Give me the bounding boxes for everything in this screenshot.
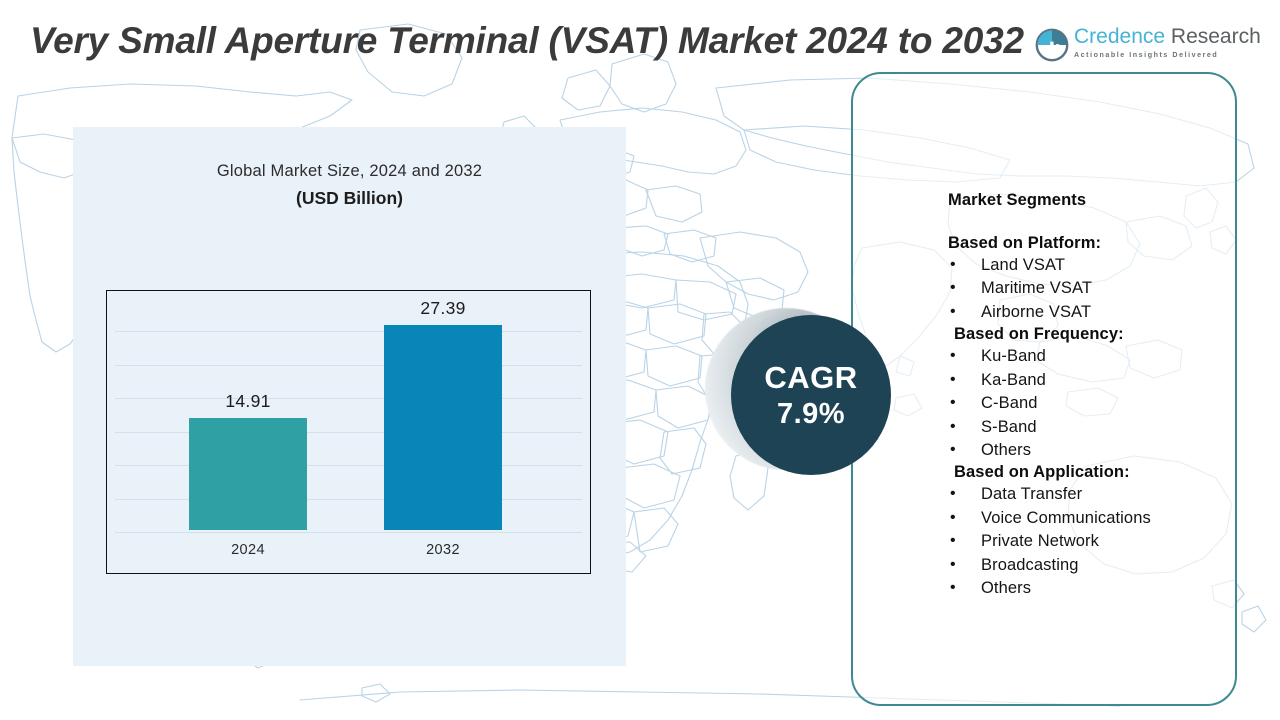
segment-item-label: C-Band [981, 394, 1038, 412]
segment-item-label: Land VSAT [981, 256, 1065, 274]
segment-list-item: •Data Transfer [948, 483, 1248, 506]
logo-wordmark: Credence Research Actionable Insights De… [1074, 26, 1261, 59]
chart-heading: Global Market Size, 2024 and 2032 (USD B… [73, 162, 626, 209]
segment-list-item: •Others [948, 439, 1248, 462]
market-segments-panel: Market Segments Based on Platform:•Land … [851, 72, 1237, 706]
segment-group-list: •Ku-Band•Ka-Band•C-Band•S-Band•Others [948, 345, 1248, 462]
bullet-icon: • [950, 254, 956, 277]
segment-list-item: •Land VSAT [948, 254, 1248, 277]
logo-name-primary: Credence [1074, 25, 1165, 48]
bullet-icon: • [950, 301, 956, 324]
segment-list-item: •C-Band [948, 392, 1248, 415]
segment-list-item: •Broadcasting [948, 554, 1248, 577]
bullet-icon: • [950, 416, 956, 439]
segment-list-item: •Ku-Band [948, 345, 1248, 368]
segment-item-label: Ka-Band [981, 371, 1046, 389]
segment-list-item: •Airborne VSAT [948, 301, 1248, 324]
bullet-icon: • [950, 369, 956, 392]
page-title: Very Small Aperture Terminal (VSAT) Mark… [30, 18, 1060, 64]
segment-list-item: •Private Network [948, 530, 1248, 553]
chart-heading-line1: Global Market Size, 2024 and 2032 [73, 162, 626, 181]
bullet-icon: • [950, 483, 956, 506]
market-segments-title: Market Segments [948, 191, 1248, 210]
chart-heading-line2: (USD Billion) [73, 188, 626, 209]
segment-item-label: Ku-Band [981, 347, 1046, 365]
bullet-icon: • [950, 439, 956, 462]
segment-list-item: •Voice Communications [948, 507, 1248, 530]
segment-item-label: S-Band [981, 418, 1037, 436]
segment-item-label: Others [981, 441, 1031, 459]
segment-item-label: Voice Communications [981, 509, 1151, 527]
cagr-badge: CAGR 7.9% [705, 300, 905, 496]
segment-group-heading: Based on Application: [948, 463, 1248, 482]
segment-group-list: •Data Transfer•Voice Communications•Priv… [948, 483, 1248, 600]
segment-item-label: Others [981, 579, 1031, 597]
bullet-icon: • [950, 530, 956, 553]
bar-category-label: 2032 [343, 542, 543, 558]
logo-tagline: Actionable Insights Delivered [1074, 51, 1261, 59]
bullet-icon: • [950, 345, 956, 368]
bar-group: 14.912024 [189, 418, 307, 530]
bullet-icon: • [950, 554, 956, 577]
segment-item-label: Data Transfer [981, 485, 1082, 503]
bullet-icon: • [950, 392, 956, 415]
segment-group-heading: Based on Frequency: [948, 325, 1248, 344]
cagr-circle: CAGR 7.9% [731, 315, 891, 475]
segment-group-list: •Land VSAT•Maritime VSAT•Airborne VSAT [948, 254, 1248, 324]
bullet-icon: • [950, 507, 956, 530]
segment-item-label: Maritime VSAT [981, 279, 1092, 297]
logo-name-secondary: Research [1165, 25, 1261, 48]
bullet-icon: • [950, 277, 956, 300]
bar-2032 [384, 325, 502, 530]
segment-list-item: •Ka-Band [948, 369, 1248, 392]
segment-list-item: •Maritime VSAT [948, 277, 1248, 300]
segment-group-heading: Based on Platform: [948, 234, 1248, 253]
bar-group: 27.392032 [384, 325, 502, 530]
bar-value-label: 14.91 [168, 391, 328, 412]
segment-list-item: •S-Band [948, 416, 1248, 439]
bullet-icon: • [950, 577, 956, 600]
bar-category-label: 2024 [148, 542, 348, 558]
chart-bars: 14.91202427.392032 [107, 291, 590, 573]
company-logo[interactable]: Credence Research Actionable Insights De… [1035, 26, 1251, 70]
segment-item-label: Airborne VSAT [981, 303, 1091, 321]
segment-item-label: Private Network [981, 532, 1099, 550]
bar-chart-plot-area: 14.91202427.392032 [106, 290, 591, 574]
cagr-value: 7.9% [777, 400, 845, 429]
cagr-label: CAGR [764, 362, 857, 393]
credence-bar-chart-circle-icon [1035, 28, 1069, 62]
segment-item-label: Broadcasting [981, 556, 1079, 574]
infographic-root: Very Small Aperture Terminal (VSAT) Mark… [0, 0, 1280, 720]
market-segments-content: Market Segments Based on Platform:•Land … [948, 191, 1248, 601]
bar-value-label: 27.39 [363, 298, 523, 319]
segment-list-item: •Others [948, 577, 1248, 600]
bar-2024 [189, 418, 307, 530]
